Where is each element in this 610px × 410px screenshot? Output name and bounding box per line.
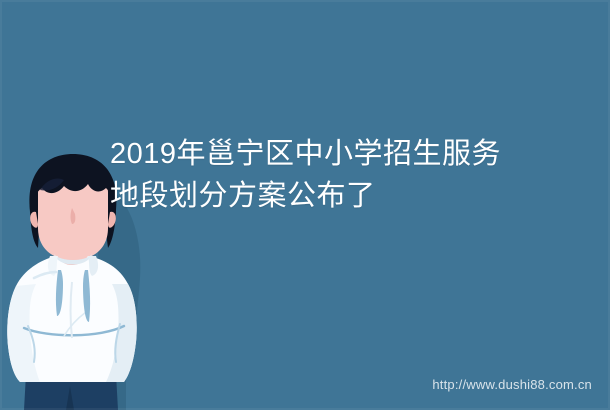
article-thumbnail-banner: 2019年邕宁区中小学招生服务 地段划分方案公布了 http://www.dus… bbox=[0, 0, 610, 410]
banner-title-line-1: 2019年邕宁区中小学招生服务 bbox=[110, 133, 580, 175]
hoodie bbox=[7, 254, 136, 382]
site-watermark-url: http://www.dushi88.com.cn bbox=[432, 377, 592, 392]
banner-title: 2019年邕宁区中小学招生服务 地段划分方案公布了 bbox=[110, 133, 580, 217]
banner-title-line-2: 地段划分方案公布了 bbox=[110, 175, 580, 217]
